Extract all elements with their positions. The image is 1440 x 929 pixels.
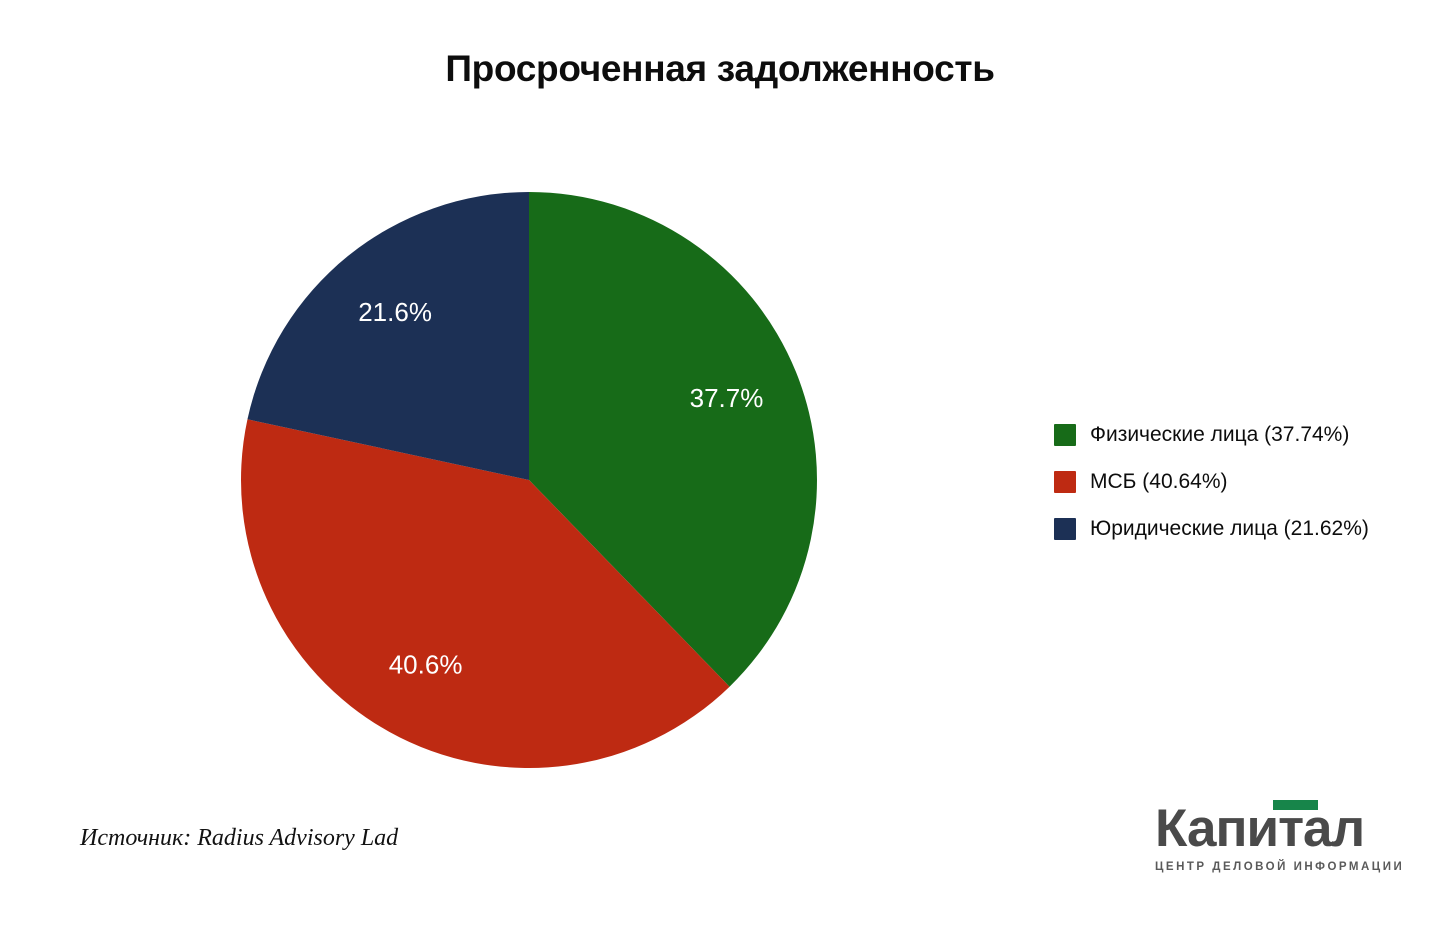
legend-color-swatch-icon [1054, 424, 1076, 446]
legend-item[interactable]: МСБ (40.64%) [1054, 458, 1424, 505]
legend-color-swatch-icon [1054, 471, 1076, 493]
publisher-logo: Капитал ЦЕНТР ДЕЛОВОЙ ИНФОРМАЦИИ [1155, 802, 1387, 873]
legend-item-label: Юридические лица (21.62%) [1090, 517, 1369, 541]
pie-slice-label: 40.6% [389, 649, 463, 679]
pie-svg: 37.7%40.6%21.6% [241, 192, 817, 768]
logo-wordmark-label: Капитал [1155, 799, 1364, 858]
pie-slices [241, 192, 817, 768]
pie-chart-area: 37.7%40.6%21.6% [241, 192, 817, 768]
source-note: Источник: Radius Advisory Lad [80, 825, 398, 852]
legend-item[interactable]: Физические лица (37.74%) [1054, 411, 1424, 458]
legend-color-swatch-icon [1054, 518, 1076, 540]
legend-item-label: Физические лица (37.74%) [1090, 423, 1349, 447]
pie-slice-label: 37.7% [690, 383, 764, 413]
logo-tagline: ЦЕНТР ДЕЛОВОЙ ИНФОРМАЦИИ [1155, 861, 1387, 873]
legend-item-label: МСБ (40.64%) [1090, 470, 1227, 494]
logo-wordmark-text: Капитал [1155, 802, 1387, 856]
pie-slice-label: 21.6% [358, 297, 432, 327]
logo-accent-bar-icon [1273, 800, 1318, 810]
chart-legend: Физические лица (37.74%)МСБ (40.64%)Юрид… [1054, 411, 1424, 552]
chart-title: Просроченная задолженность [0, 48, 1440, 90]
pie-chart-figure: Просроченная задолженность 37.7%40.6%21.… [0, 0, 1440, 929]
legend-item[interactable]: Юридические лица (21.62%) [1054, 505, 1424, 552]
